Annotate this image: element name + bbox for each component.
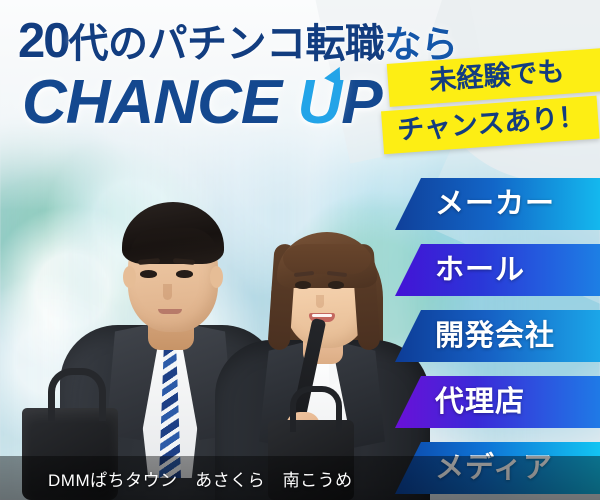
category-label-maker: メーカー (435, 190, 555, 219)
advertisement-banner[interactable]: 20代のパチンコ転職なら CHANCE UP 未経験でも チャンスあり！ メーカ… (0, 0, 600, 500)
category-button-maker[interactable]: メーカー (395, 178, 600, 230)
people-photo (0, 155, 430, 500)
category-label-agency: 代理店 (435, 388, 525, 417)
category-button-agency[interactable]: 代理店 (395, 376, 600, 428)
chance-up-logo: CHANCE UP (22, 72, 382, 134)
category-button-development-company[interactable]: 開発会社 (395, 310, 600, 362)
yellow-badge: 未経験でも チャンスあり！ (388, 56, 600, 142)
category-button-list: メーカー ホール 開発会社 代理店 メディア (395, 178, 600, 500)
male-hair (122, 202, 224, 264)
credit-bar: DMMぱちタウン あさくら 南こうめ (0, 456, 600, 500)
logo-text-chance: CHANCE (22, 68, 297, 137)
logo-letter-u-accent: U (297, 72, 341, 134)
category-label-hall: ホール (435, 256, 525, 285)
headline-number: 20 (18, 14, 69, 68)
headline-middle: 代のパチンコ転職 (69, 22, 385, 66)
category-label-development-company: 開発会社 (435, 322, 555, 351)
category-button-hall[interactable]: ホール (395, 244, 600, 296)
credit-text: DMMぱちタウン あさくら 南こうめ (48, 466, 353, 491)
logo-letter-p: P (341, 68, 381, 137)
